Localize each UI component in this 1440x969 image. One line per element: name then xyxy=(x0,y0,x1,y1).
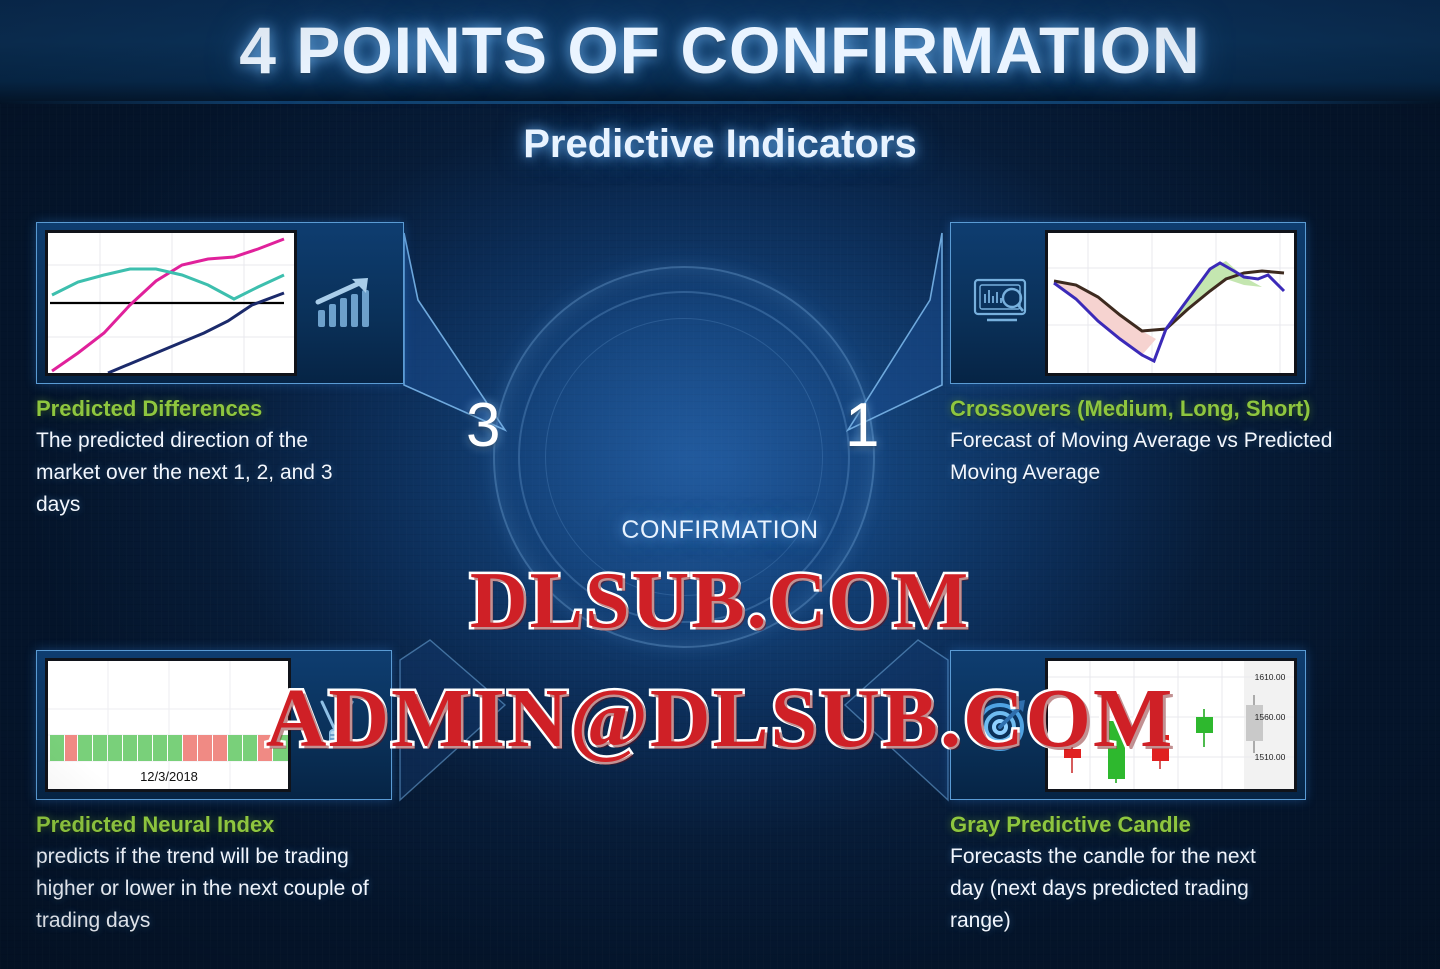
page-title: 4 POINTS OF CONFIRMATION xyxy=(0,12,1440,88)
step-number-3: 3 xyxy=(466,390,500,461)
body-predicted-differences: The predicted direction of the market ov… xyxy=(36,425,336,521)
watermark-email: ADMIN@DLSUB.COM xyxy=(0,670,1440,767)
bar-chart-growth-icon xyxy=(297,276,393,330)
heading-gray-predictive-candle: Gray Predictive Candle xyxy=(950,812,1410,838)
bearish-fill xyxy=(1054,281,1166,355)
body-gray-predictive-candle: Forecasts the candle for the next day (n… xyxy=(950,841,1295,937)
heading-crossovers: Crossovers (Medium, Long, Short) xyxy=(950,396,1410,422)
predicted-differences-svg xyxy=(48,233,294,373)
heading-predicted-neural-index: Predicted Neural Index xyxy=(36,812,436,838)
panel-crossovers[interactable]: Crossovers (Medium, Long, Short) Forecas… xyxy=(950,222,1410,489)
page-subtitle: Predictive Indicators xyxy=(0,122,1440,167)
monitor-analytics-icon-svg xyxy=(971,276,1033,330)
card-crossovers xyxy=(950,222,1306,384)
step-number-1: 1 xyxy=(845,390,879,461)
monitor-analytics-icon xyxy=(959,276,1045,330)
bar-chart-growth-icon-svg xyxy=(314,276,376,330)
series-1-day xyxy=(52,239,284,371)
card-predicted-differences xyxy=(36,222,404,384)
chart-crossovers xyxy=(1045,230,1297,376)
series-3-day xyxy=(108,293,284,373)
crossovers-svg xyxy=(1048,233,1294,373)
chart-predicted-differences xyxy=(45,230,297,376)
body-predicted-neural-index: predicts if the trend will be trading hi… xyxy=(36,841,381,937)
body-crossovers: Forecast of Moving Average vs Predicted … xyxy=(950,425,1350,489)
panel-predicted-differences[interactable]: Predicted Differences The predicted dire… xyxy=(36,222,414,521)
watermark-domain: DLSUB.COM xyxy=(0,556,1440,647)
heading-predicted-differences: Predicted Differences xyxy=(36,396,414,422)
neural-index-date-label: 12/3/2018 xyxy=(140,769,198,784)
